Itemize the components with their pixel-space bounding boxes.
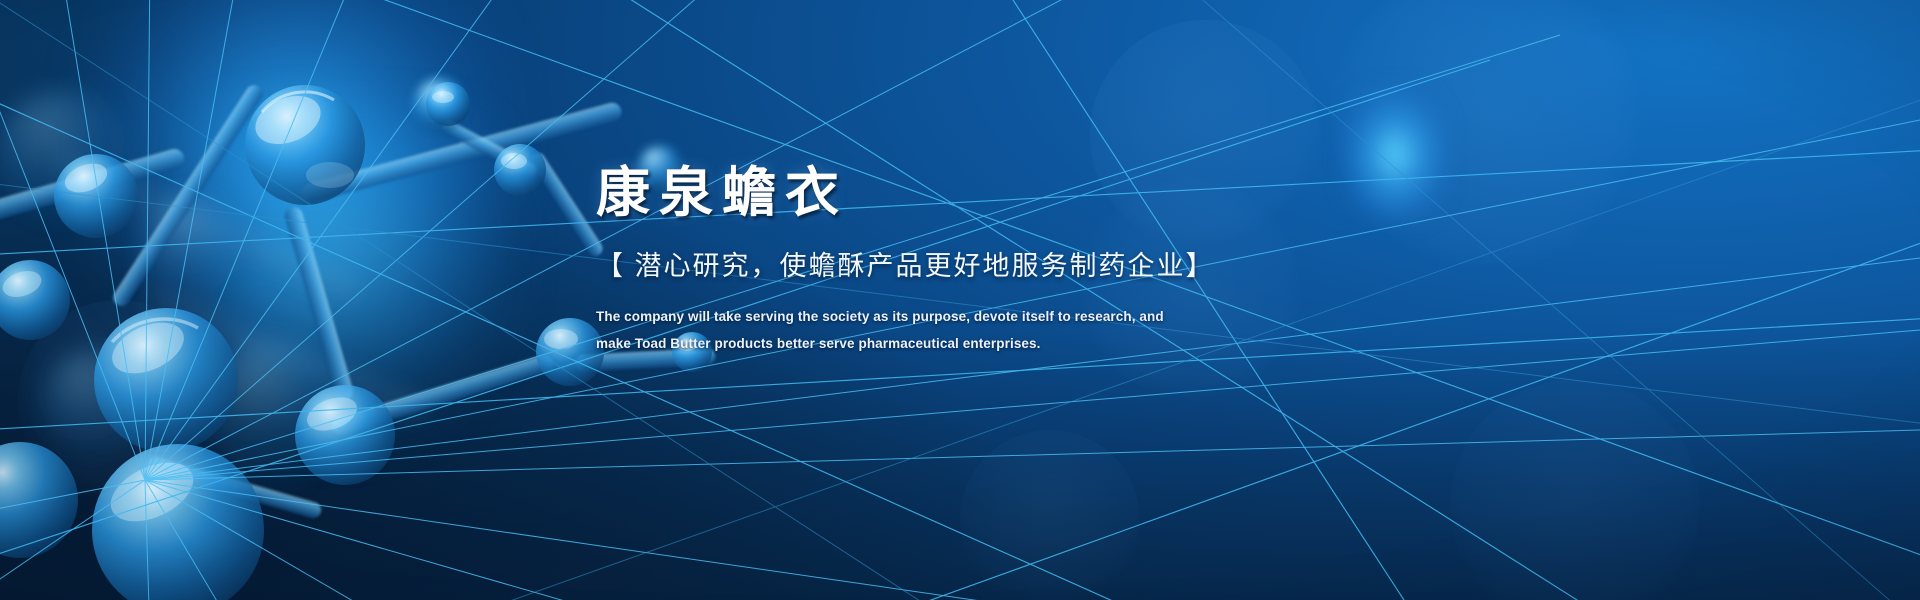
banner-description-line-2: make Toad Butter products better serve p…: [596, 330, 1036, 357]
banner-text-block: 康泉蟾衣 【 潜心研究，使蟾酥产品更好地服务制药企业】 The company …: [596, 165, 1356, 357]
banner-subtitle: 【 潜心研究，使蟾酥产品更好地服务制药企业】: [596, 244, 1356, 283]
hero-banner: 康泉蟾衣 【 潜心研究，使蟾酥产品更好地服务制药企业】 The company …: [0, 0, 1920, 600]
banner-description-line-1: The company will take serving the societ…: [596, 303, 1036, 330]
banner-title: 康泉蟾衣: [596, 165, 1356, 222]
banner-description: The company will take serving the societ…: [596, 303, 1036, 357]
